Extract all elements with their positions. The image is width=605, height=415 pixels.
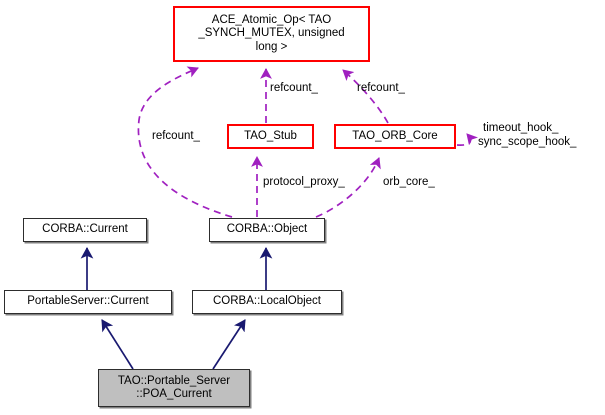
class-node-tao-stub[interactable]: TAO_Stub (227, 124, 314, 149)
class-node-poa-current[interactable]: TAO::Portable_Server ::POA_Current (98, 369, 250, 407)
class-node-tao-orb-core[interactable]: TAO_ORB_Core (334, 124, 456, 149)
edge-label-sync-scope-hook: sync_scope_hook_ (478, 136, 576, 149)
association-edge-tao-orb-core-self-loop (457, 134, 470, 145)
edge-label-orb-core: orb_core_ (383, 176, 435, 189)
class-node-corba-localobject[interactable]: CORBA::LocalObject (192, 290, 342, 314)
diagram-edges (0, 0, 605, 415)
association-edge-tao-orb-core-to-ace-atomic-op (343, 70, 388, 123)
edge-label-refcount-middle: refcount_ (270, 82, 318, 95)
inheritance-edge-poa-current-to-portableserver-current (102, 320, 133, 369)
inheritance-edge-poa-current-to-corba-localobject (213, 320, 245, 369)
uml-collaboration-diagram: ACE_Atomic_Op< TAO _SYNCH_MUTEX, unsigne… (0, 0, 605, 415)
class-node-portableserver-current[interactable]: PortableServer::Current (4, 290, 172, 314)
edge-label-refcount-left: refcount_ (152, 130, 200, 143)
class-node-corba-object[interactable]: CORBA::Object (209, 218, 325, 242)
edge-label-timeout-hook: timeout_hook_ (483, 122, 558, 135)
edge-label-protocol-proxy: protocol_proxy_ (263, 176, 345, 189)
class-node-corba-current[interactable]: CORBA::Current (23, 218, 147, 242)
edge-label-refcount-right: refcount_ (357, 82, 405, 95)
class-node-ace-atomic-op[interactable]: ACE_Atomic_Op< TAO _SYNCH_MUTEX, unsigne… (173, 6, 370, 62)
